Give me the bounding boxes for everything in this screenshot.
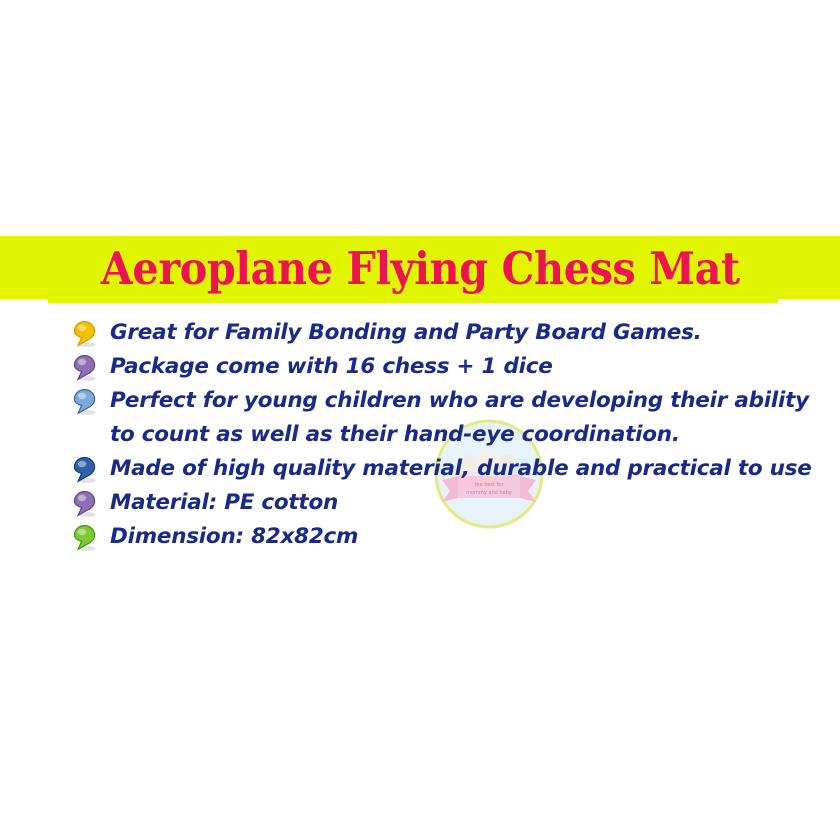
feature-item: Package come with 16 chess + 1 dice [0, 350, 840, 384]
title-banner: Aeroplane Flying Chess Mat [0, 236, 840, 303]
feature-item: Dimension: 82x82cm [0, 520, 840, 554]
feature-text: Perfect for young children who are devel… [110, 384, 840, 418]
pin-bullet-purple-2 [70, 490, 100, 518]
feature-text: Material: PE cotton [110, 486, 840, 520]
feature-text: Package come with 16 chess + 1 dice [110, 350, 840, 384]
feature-list: Great for Family Bonding and Party Board… [0, 316, 840, 554]
feature-item: Made of high quality material, durable a… [0, 452, 840, 486]
product-info-card: the best for mommy and baby Aeroplane Fl… [0, 0, 840, 840]
pin-bullet-purple [70, 354, 100, 382]
pin-bullet-yellow [70, 320, 100, 348]
pin-bullet-darkblue [70, 456, 100, 484]
feature-item: Material: PE cotton [0, 486, 840, 520]
pin-bullet-green [70, 524, 100, 552]
feature-item: Perfect for young children who are devel… [0, 384, 840, 452]
feature-item: Great for Family Bonding and Party Board… [0, 316, 840, 350]
pin-bullet-lightblue [70, 388, 100, 416]
feature-text: Made of high quality material, durable a… [110, 452, 840, 486]
feature-text-continued: to count as well as their hand-eye coord… [110, 418, 840, 452]
feature-text: Great for Family Bonding and Party Board… [110, 316, 840, 350]
feature-text: Dimension: 82x82cm [110, 520, 840, 554]
product-title: Aeroplane Flying Chess Mat [101, 246, 740, 291]
